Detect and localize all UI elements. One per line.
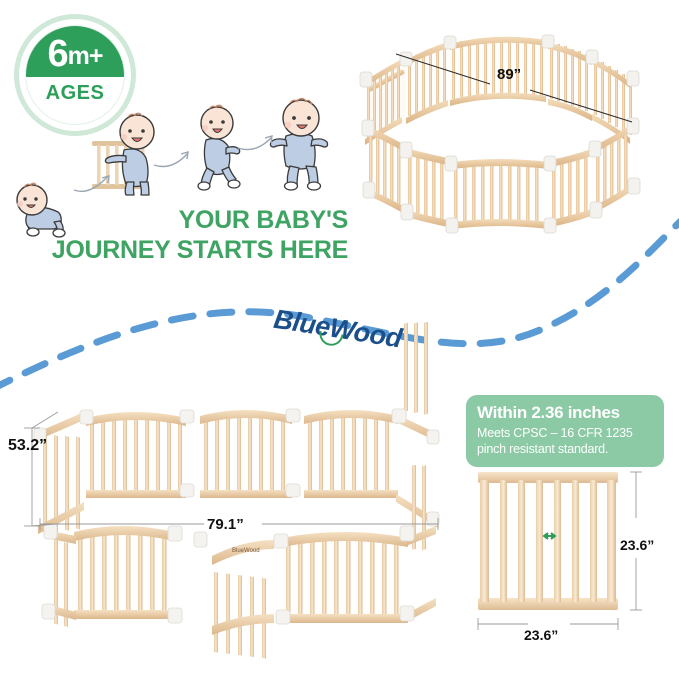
decorative-wave-divider — [0, 210, 679, 400]
callout-body-line-1: Meets CPSC – 16 CFR 1235 — [477, 426, 653, 442]
progress-arrow-2-icon — [152, 145, 194, 171]
progress-arrow-1-icon — [72, 168, 114, 194]
badge-age-unit: m+ — [68, 42, 103, 70]
circle-diameter-label: 89” — [497, 66, 521, 83]
infographic-canvas: 6m+ AGES — [0, 0, 679, 679]
badge-age-number: 6 — [48, 33, 68, 75]
progress-arrow-3-icon — [236, 130, 278, 156]
brand-logo-smile-icon — [318, 331, 344, 348]
badge-core: 6m+ AGES — [25, 25, 125, 125]
panel-height-label: 23.6” — [620, 537, 654, 553]
badge-ages-label: AGES — [26, 82, 124, 105]
callout-body-line-2: pinch resistant standard. — [477, 442, 653, 458]
rect-width-label: 79.1” — [207, 516, 244, 533]
single-panel-illustration — [470, 472, 670, 642]
panel-width-label: 23.6” — [524, 627, 558, 643]
badge-age-text: 6m+ — [26, 35, 124, 73]
rect-height-label: 53.2” — [8, 437, 47, 455]
pinch-standard-callout: Within 2.36 inches Meets CPSC – 16 CFR 1… — [466, 395, 664, 467]
callout-title: Within 2.36 inches — [477, 403, 653, 423]
circular-playpen-illustration — [344, 22, 669, 240]
gate-brand-label: BlueWood — [232, 548, 260, 554]
